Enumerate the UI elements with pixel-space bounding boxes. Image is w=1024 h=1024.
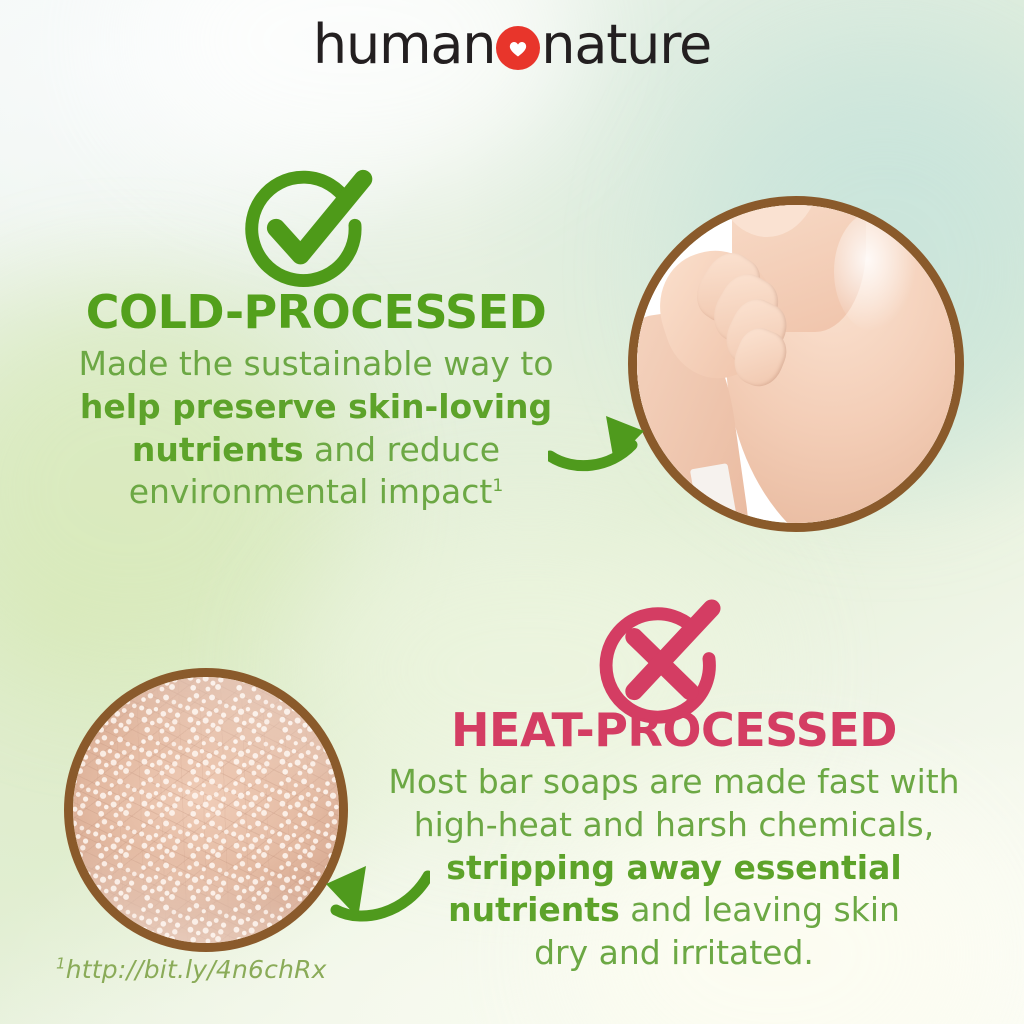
body-line: Made the sustainable way to [78,344,553,383]
cold-processed-headline: COLD-PROCESSED [16,288,616,337]
infographic-poster: human nature [0,0,1024,1024]
logo-word-human: human [313,18,495,72]
body-line: high-heat and harsh chemicals, [414,805,935,844]
body-line-emphasis: nutrients [448,890,620,929]
smooth-skin-shoulder-photo [628,196,964,532]
check-circle-icon [238,160,374,296]
heart-icon [496,26,540,70]
cold-processed-body: Made the sustainable way to help preserv… [16,343,616,515]
body-line-emphasis: nutrients [132,430,304,469]
footnote-marker: 1 [56,955,66,973]
body-line: and reduce [304,430,501,469]
brand-logo: human nature [0,18,1024,72]
heat-processed-headline: HEAT-PROCESSED [368,706,980,755]
logo-word-nature: nature [541,18,711,72]
body-line-emphasis: stripping away essential [446,848,901,887]
cold-processed-block: COLD-PROCESSED Made the sustainable way … [16,288,616,514]
footnote-url[interactable]: http://bit.ly/4n6chRx [66,955,327,984]
body-line: and leaving skin [620,890,900,929]
footnote-marker: 1 [492,476,503,496]
body-line-emphasis: help preserve skin-loving [80,387,552,426]
body-line: Most bar soaps are made fast with [388,762,959,801]
heat-processed-body: Most bar soaps are made fast with high-h… [368,761,980,975]
body-line: environmental impact [129,472,493,511]
body-line: dry and irritated. [534,933,814,972]
heat-processed-block: HEAT-PROCESSED Most bar soaps are made f… [368,706,980,975]
footnote-source[interactable]: 1http://bit.ly/4n6chRx [56,955,327,984]
